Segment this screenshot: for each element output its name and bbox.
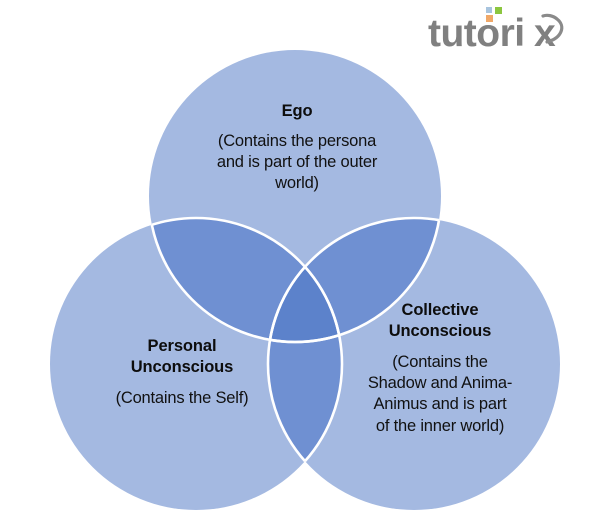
diagram-canvas: Ego (Contains the persona and is part of… (0, 0, 600, 528)
tutorix-logo-svg: tutori x (426, 4, 586, 54)
logo-wordmark: tutori (428, 12, 525, 54)
logo-letter-x: x (534, 12, 556, 54)
venn-diagram (0, 0, 600, 528)
tutorix-logo: tutori x (426, 4, 586, 52)
